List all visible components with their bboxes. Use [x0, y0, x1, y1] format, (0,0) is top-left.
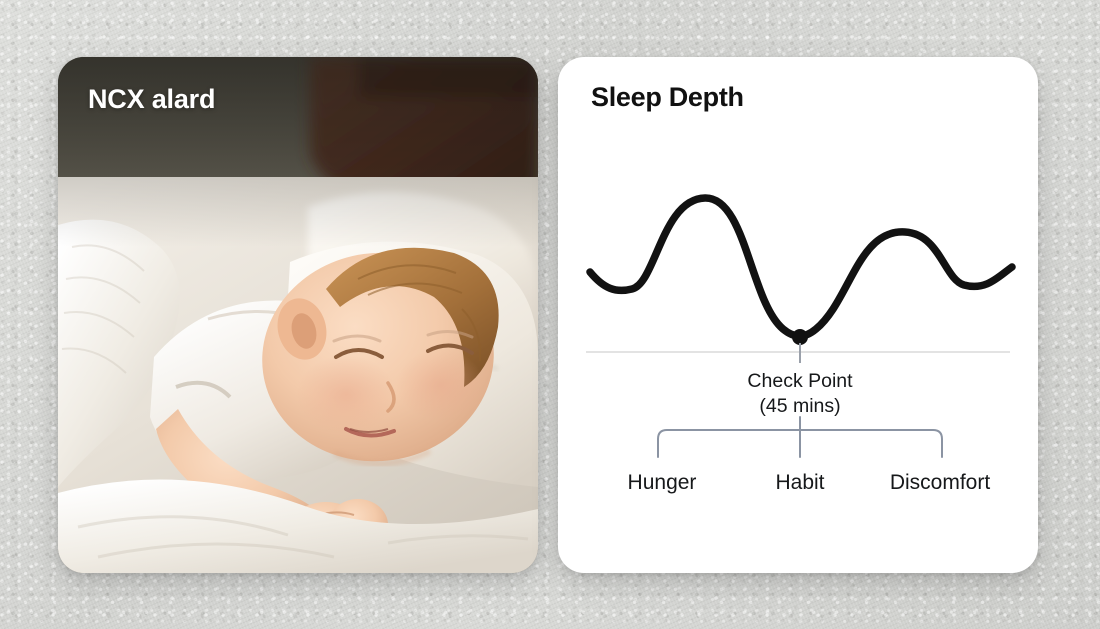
branch-label-habit: Habit: [775, 471, 824, 494]
checkpoint-marker-dot[interactable]: [792, 329, 808, 345]
sleep-depth-chart: Check Point (45 mins) Hunger Habit Disco…: [558, 57, 1038, 573]
photo-card[interactable]: NCX alard: [58, 57, 538, 573]
photo-card-title: NCX alard: [88, 84, 215, 115]
sleep-depth-curve: [590, 198, 1012, 336]
checkpoint-label-line1: Check Point: [747, 370, 853, 392]
branch-label-hunger: Hunger: [628, 471, 697, 494]
checkpoint-label-line2: (45 mins): [759, 395, 840, 417]
sleeping-baby-photo: [58, 57, 538, 573]
sleep-depth-card[interactable]: Sleep Depth Check Point (45 mins) Hunger…: [558, 57, 1038, 573]
branch-label-discomfort: Discomfort: [890, 471, 991, 494]
baby-photo-illustration: [58, 57, 538, 573]
